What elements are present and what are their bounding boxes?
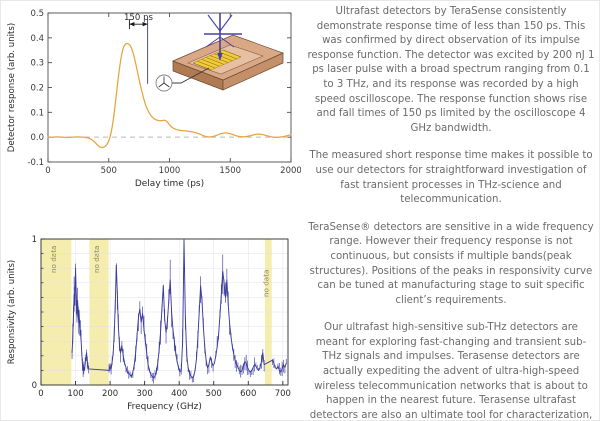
x-tick-label: 1500	[219, 166, 241, 176]
y-tick-label: 0.0	[30, 133, 44, 143]
responsivity-spectrum-svg: no datano datano data0100200300400500600…	[1, 201, 301, 421]
paragraph-response-time: Ultrafast detectors by TeraSense consist…	[307, 5, 595, 136]
x-tick-label: 300	[137, 389, 153, 399]
paragraph-transient-processes: The measured short response time makes i…	[307, 149, 595, 207]
x-tick-label: 0	[45, 166, 50, 176]
impulse-response-svg: 0500100015002000-0.10.00.10.20.30.40.5De…	[1, 1, 301, 201]
y-tick-label: 0.3	[30, 59, 44, 69]
paragraph-applications: Our ultrafast high-sensitive sub-THz det…	[307, 321, 595, 421]
annotation-150ps-label: 150 ps	[124, 13, 154, 23]
x-tick-label: 400	[171, 389, 187, 399]
x-tick-label: 500	[101, 166, 117, 176]
x-axis-label: Frequency (GHz)	[127, 402, 202, 412]
y-tick-label: 0.1	[30, 108, 44, 118]
x-tick-label: 200	[102, 389, 118, 399]
y-tick-label: 0	[32, 381, 37, 391]
y-tick-label: -0.1	[27, 158, 44, 168]
y-tick-label: 0.4	[30, 34, 44, 44]
y-tick-label: 0.5	[30, 9, 44, 19]
x-tick-label: 1000	[159, 166, 181, 176]
description-text-panel: Ultrafast detectors by TeraSense consist…	[303, 1, 599, 421]
page-root: 0500100015002000-0.10.00.10.20.30.40.5De…	[0, 0, 600, 421]
y-axis-label: Detector response (arb. units)	[7, 23, 17, 153]
paragraph-frequency-bands: TeraSense® detectors are sensitive in a …	[307, 221, 595, 309]
chart-impulse-response: 0500100015002000-0.10.00.10.20.30.40.5De…	[1, 1, 301, 201]
x-axis-label: Delay time (ps)	[135, 179, 204, 189]
x-tick-label: 700	[275, 389, 291, 399]
x-tick-label: 600	[240, 389, 256, 399]
x-tick-label: 2000	[280, 166, 301, 176]
x-tick-label: 500	[206, 389, 222, 399]
x-tick-label: 0	[38, 389, 43, 399]
no-data-label: no data	[49, 246, 58, 273]
figures-column: 0500100015002000-0.10.00.10.20.30.40.5De…	[1, 1, 301, 421]
no-data-label: no data	[92, 246, 101, 273]
y-tick-label: 0.2	[30, 84, 44, 94]
y-tick-label: 1	[32, 235, 37, 245]
chart-responsivity-spectrum: no datano datano data0100200300400500600…	[1, 201, 301, 421]
x-tick-label: 100	[67, 389, 83, 399]
no-data-label: no data	[261, 270, 270, 297]
y-axis-label: Responsivity (arb. units)	[7, 260, 17, 365]
